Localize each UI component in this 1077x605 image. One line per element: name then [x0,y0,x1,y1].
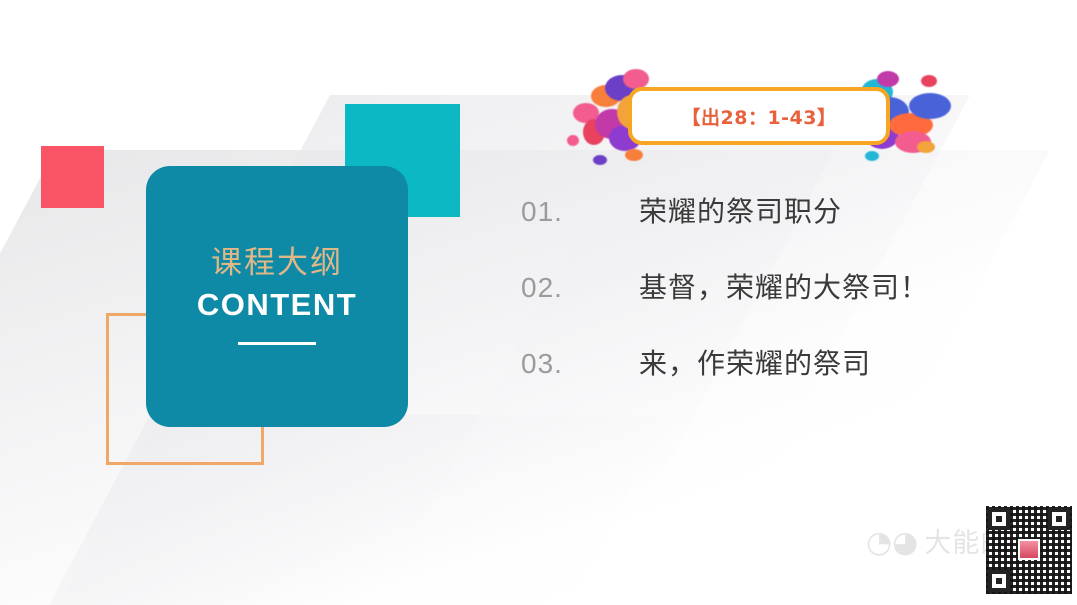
scripture-banner-box: 【出28：1-43】 [628,87,890,145]
list-item-label: 基督，荣耀的大祭司！ [639,266,929,306]
wechat-icon: ◔◕ [866,528,918,558]
pink-square-decoration [41,146,104,208]
paint-splatter-right [917,141,935,153]
content-card-title-en: CONTENT [197,289,357,320]
qr-center-logo-icon [1018,539,1040,560]
qr-code-pattern [986,506,1072,594]
paint-splatter-right [909,93,951,119]
qr-finder-icon [1048,508,1070,530]
list-item[interactable]: 03. 来，作荣耀的祭司 [521,342,981,418]
background-shadow-band [0,415,670,605]
content-card-divider [238,342,316,345]
paint-splatter-left [593,155,607,165]
paint-splatter-left [567,135,579,146]
scripture-reference-text: 【出28：1-43】 [682,103,837,130]
list-item[interactable]: 01. 荣耀的祭司职分 [521,190,981,266]
qr-finder-icon [988,570,1010,592]
list-item-number: 01. [521,196,639,228]
slide-canvas: 课程大纲 CONTENT 【出28：1-43】 01. 荣耀的 [0,0,1077,605]
paint-splatter-right [921,75,937,87]
scripture-banner: 【出28：1-43】 [565,63,995,168]
content-title-card: 课程大纲 CONTENT [146,166,408,427]
list-item-number: 03. [521,348,639,380]
paint-splatter-left [625,149,643,161]
qr-finder-icon [988,508,1010,530]
paint-splatter-left [623,69,649,89]
list-item[interactable]: 02. 基督，荣耀的大祭司！ [521,266,981,342]
list-item-label: 来，作荣耀的祭司 [639,342,871,382]
paint-splatter-right [877,71,899,87]
list-item-label: 荣耀的祭司职分 [639,190,842,230]
list-item-number: 02. [521,272,639,304]
content-card-title-cn: 课程大纲 [211,248,343,279]
qr-code[interactable] [986,506,1072,594]
paint-splatter-right [865,151,879,161]
outline-list: 01. 荣耀的祭司职分 02. 基督，荣耀的大祭司！ 03. 来，作荣耀的祭司 [521,190,981,418]
